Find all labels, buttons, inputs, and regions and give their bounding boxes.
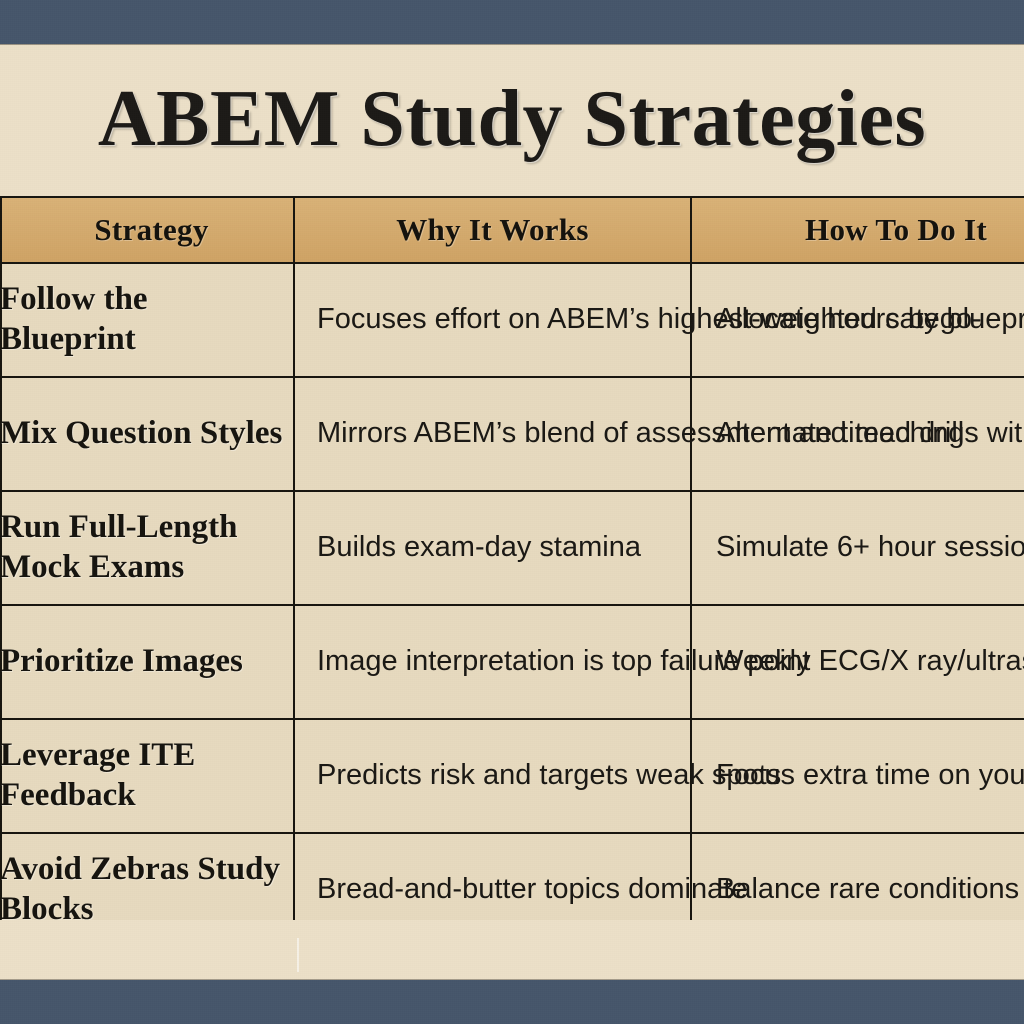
cell-strategy: Follow the Blueprint (1, 263, 294, 377)
table-body: Follow the Blueprint Focuses effort on A… (1, 263, 1024, 920)
strategy-text: Mix Question Styles (0, 410, 293, 458)
table-header-row: Strategy Why It Works How To Do It (1, 197, 1024, 263)
column-header-how-to-do-it: How To Do It (691, 197, 1024, 263)
cell-how: Weekly ECG/X ray/ultrasound practice set… (691, 605, 1024, 719)
strategy-text: Leverage ITE Feedback (0, 732, 293, 819)
table-header: Strategy Why It Works How To Do It (1, 197, 1024, 263)
strategy-text: Avoid Zebras Study Blocks (0, 846, 293, 920)
how-text: Weekly ECG/X ray/ultrasound practice set… (692, 639, 1024, 684)
how-text: Simulate 6+ hour sessions with breks (692, 525, 1024, 570)
why-text: Builds exam-day stamina (295, 525, 690, 570)
table-row: Follow the Blueprint Focuses effort on A… (1, 263, 1024, 377)
column-header-why-it-works: Why It Works (294, 197, 691, 263)
cell-why: Image interpretation is top failure poin… (294, 605, 691, 719)
table-row: Avoid Zebras Study Blocks Bread-and-butt… (1, 833, 1024, 920)
poster-canvas: ABEM Study Strategies Strategy Why It Wo… (0, 0, 1024, 1024)
how-text: Allocate hours by blueprint percentages (692, 297, 1024, 342)
strategy-text: Follow the Blueprint (0, 276, 293, 363)
table-row: Leverage ITE Feedback Predicts risk and … (1, 719, 1024, 833)
why-text: Focuses effort on ABEM’s highest-weighte… (295, 297, 690, 342)
strategies-table-wrapper: Strategy Why It Works How To Do It Follo… (0, 196, 1024, 920)
table-row: Mix Question Styles Mirrors ABEM’s blend… (1, 377, 1024, 491)
cell-why: Builds exam-day stamina (294, 491, 691, 605)
cell-how: Focus extra time on your bottom 3 domain… (691, 719, 1024, 833)
cell-strategy: Prioritize Images (1, 605, 294, 719)
table-row: Prioritize Images Image interpretation i… (1, 605, 1024, 719)
cell-strategy: Avoid Zebras Study Blocks (1, 833, 294, 920)
why-text: Mirrors ABEM’s blend of assessment and t… (295, 411, 690, 456)
paper-sheet: ABEM Study Strategies Strategy Why It Wo… (0, 44, 1024, 980)
why-text: Predicts risk and targets weak spots (295, 753, 690, 798)
strategies-table: Strategy Why It Works How To Do It Follo… (0, 196, 1024, 920)
bottom-frame-band (0, 980, 1024, 1024)
how-text: Alternate timed drills with case-based r… (692, 411, 1024, 456)
cell-strategy: Mix Question Styles (1, 377, 294, 491)
how-text: Balance rare conditions with common ones (692, 867, 1024, 912)
strategy-text: Prioritize Images (0, 638, 293, 686)
cell-why: Bread-and-butter topics dominate (294, 833, 691, 920)
cell-how: Alternate timed drills with case-based r… (691, 377, 1024, 491)
cell-strategy: Leverage ITE Feedback (1, 719, 294, 833)
why-text: Image interpretation is top failure poin… (295, 639, 690, 684)
why-text: Bread-and-butter topics dominate (295, 867, 690, 912)
strategy-text: Run Full-Length Mock Exams (0, 504, 293, 591)
cell-how: Simulate 6+ hour sessions with breks (691, 491, 1024, 605)
cell-why: Mirrors ABEM’s blend of assessment and t… (294, 377, 691, 491)
cell-why: Predicts risk and targets weak spots (294, 719, 691, 833)
cell-how: Allocate hours by blueprint percentages (691, 263, 1024, 377)
cell-why: Focuses effort on ABEM’s highest-weighte… (294, 263, 691, 377)
how-text: Focus extra time on your bottom 3 domain… (692, 753, 1024, 798)
column-header-strategy: Strategy (1, 197, 294, 263)
page-title: ABEM Study Strategies (0, 74, 1024, 165)
table-row: Run Full-Length Mock Exams Builds exam-d… (1, 491, 1024, 605)
top-frame-band (0, 0, 1024, 44)
cell-how: Balance rare conditions with common ones (691, 833, 1024, 920)
cell-strategy: Run Full-Length Mock Exams (1, 491, 294, 605)
